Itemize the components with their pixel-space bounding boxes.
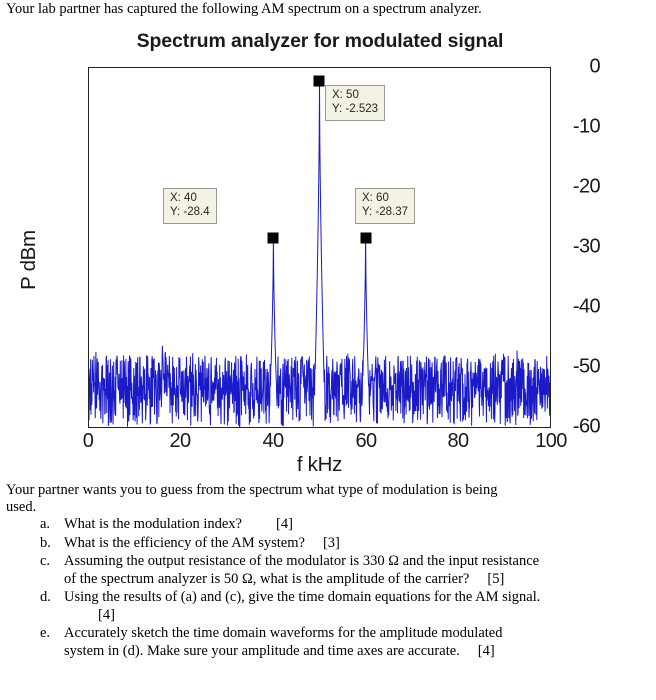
- question-e-marks: [4]: [478, 643, 495, 659]
- question-c-text-line2: of the spectrum analyzer is 50 Ω, what i…: [64, 571, 469, 587]
- questions-list: a. What is the modulation index?[4] b. W…: [6, 516, 646, 661]
- question-c-marks: [5]: [487, 571, 504, 587]
- question-e: e. Accurately sketch the time domain wav…: [6, 625, 646, 660]
- datatip-40: X: 40 Y: -28.4: [163, 188, 217, 224]
- x-tick-label-80: 80: [423, 430, 493, 453]
- peak-marker-50: [314, 76, 325, 87]
- questions-intro-line1: Your partner wants you to guess from the…: [6, 482, 636, 500]
- question-e-text-line1: Accurately sketch the time domain wavefo…: [64, 625, 502, 641]
- datatip-50-x: X: 50: [332, 89, 378, 103]
- chart-title: Spectrum analyzer for modulated signal: [88, 30, 552, 53]
- question-d-marker: d.: [40, 589, 51, 607]
- y-tick-label-0: 0: [548, 56, 600, 79]
- question-c: c. Assuming the output resistance of the…: [6, 553, 646, 588]
- question-b-marks: [3]: [323, 535, 340, 551]
- question-d-text-line1: Using the results of (a) and (c), give t…: [64, 589, 540, 605]
- y-axis-label: P dBm: [17, 200, 41, 320]
- question-d-marks: [4]: [98, 607, 115, 623]
- question-a-text: What is the modulation index?: [64, 516, 242, 532]
- x-tick-label-40: 40: [238, 430, 308, 453]
- question-c-marker: c.: [40, 553, 50, 571]
- peak-marker-40: [268, 233, 279, 244]
- question-a-marks: [4]: [276, 516, 293, 532]
- spectrum-figure: Spectrum analyzer for modulated signal P…: [0, 24, 600, 480]
- datatip-50-y: Y: -2.523: [332, 103, 378, 117]
- x-tick-label-60: 60: [331, 430, 401, 453]
- datatip-60: X: 60 Y: -28.37: [355, 188, 415, 224]
- question-e-text-line2: system in (d). Make sure your amplitude …: [64, 643, 460, 659]
- question-b: b. What is the efficiency of the AM syst…: [6, 535, 646, 553]
- y-tick-label-20: -20: [548, 176, 600, 199]
- questions-intro-line2: used.: [6, 499, 636, 517]
- datatip-40-x: X: 40: [170, 192, 210, 206]
- y-tick-label-30: -30: [548, 236, 600, 259]
- datatip-60-y: Y: -28.37: [362, 206, 408, 220]
- spectrum-trace: [89, 68, 550, 427]
- intro-text: Your lab partner has captured the follow…: [6, 1, 646, 18]
- x-tick-label-100: 100: [516, 430, 586, 453]
- plot-area: [88, 67, 551, 428]
- datatip-40-y: Y: -28.4: [170, 206, 210, 220]
- question-a: a. What is the modulation index?[4]: [6, 516, 646, 534]
- x-tick-label-0: 0: [53, 430, 123, 453]
- x-axis-label: f kHz: [88, 453, 551, 477]
- peak-marker-60: [361, 233, 372, 244]
- datatip-50: X: 50 Y: -2.523: [325, 85, 385, 121]
- question-b-text: What is the efficiency of the AM system?: [64, 535, 305, 551]
- y-tick-label-10: -10: [548, 116, 600, 139]
- question-c-text-line1: Assuming the output resistance of the mo…: [64, 553, 539, 569]
- question-e-marker: e.: [40, 625, 50, 643]
- question-a-marker: a.: [40, 516, 50, 534]
- y-tick-label-40: -40: [548, 296, 600, 319]
- y-tick-label-50: -50: [548, 356, 600, 379]
- x-tick-label-20: 20: [145, 430, 215, 453]
- datatip-60-x: X: 60: [362, 192, 408, 206]
- question-b-marker: b.: [40, 535, 51, 553]
- question-d: d. Using the results of (a) and (c), giv…: [6, 589, 646, 624]
